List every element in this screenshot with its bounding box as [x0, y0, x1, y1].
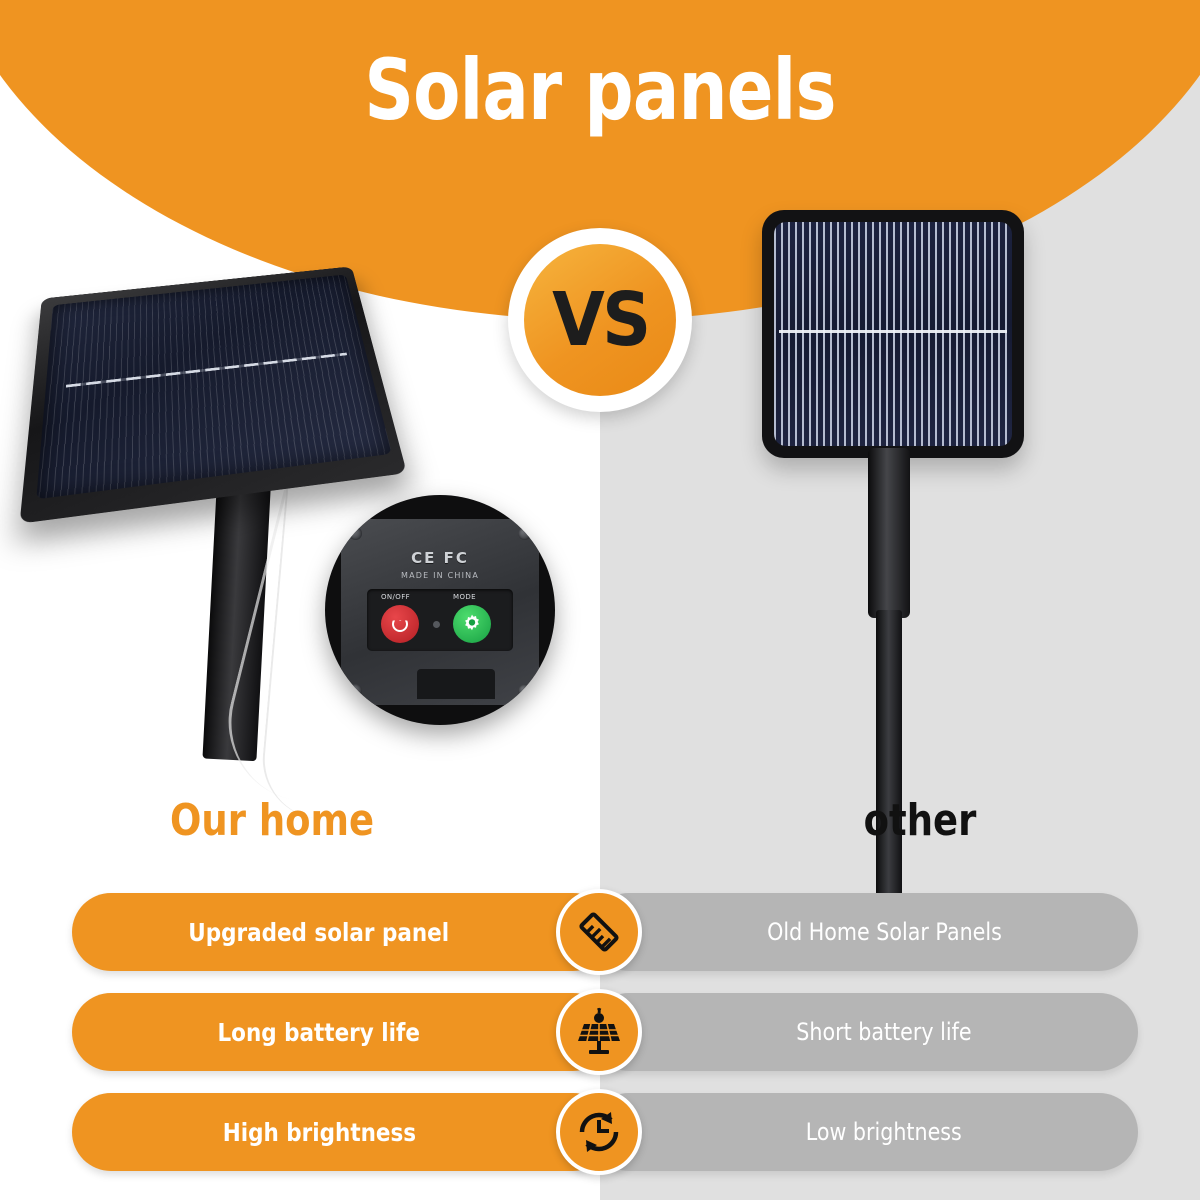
- vs-label: VS: [552, 283, 648, 357]
- mode-button-label: MODE: [453, 593, 476, 601]
- screw-icon: [349, 527, 362, 540]
- other-feature-pill[interactable]: Old Home Solar Panels: [590, 893, 1138, 971]
- screw-icon: [518, 527, 531, 540]
- screw-icon: [518, 684, 531, 697]
- infographic-canvas: Solar panels CE FC M: [0, 0, 1200, 1200]
- brand-heading-row: Our home other: [0, 795, 1200, 875]
- left-solar-panel: [36, 274, 392, 499]
- power-button-label: ON/OFF: [381, 593, 410, 601]
- our-home-heading: Our home: [170, 795, 422, 846]
- comparison-row: Upgraded solar panel Old Home Solar Pane…: [0, 893, 1200, 971]
- control-panel-foot: [417, 669, 495, 699]
- other-heading: other: [794, 795, 1046, 846]
- gear-icon: [460, 612, 484, 636]
- right-panel-cell-surface: [774, 222, 1012, 446]
- right-panel-busbar: [779, 330, 1007, 333]
- row-icon-badge: [556, 889, 642, 975]
- our-feature-pill[interactable]: Long battery life: [72, 993, 612, 1071]
- status-led: [433, 621, 440, 628]
- other-feature-label: Short battery life: [796, 1018, 971, 1046]
- right-panel-frame: [762, 210, 1024, 458]
- mode-button[interactable]: [453, 605, 491, 643]
- page-title: Solar panels: [108, 48, 1092, 132]
- right-panel-pole: [868, 448, 910, 618]
- other-feature-label: Low brightness: [806, 1118, 962, 1146]
- power-button[interactable]: [381, 605, 419, 643]
- ruler-icon: [575, 908, 623, 956]
- our-feature-label: Upgraded solar panel: [189, 918, 450, 947]
- left-panel-busbar: [66, 352, 348, 387]
- origin-text: MADE IN CHINA: [341, 571, 539, 580]
- row-icon-badge: [556, 989, 642, 1075]
- our-home-product-image: CE FC MADE IN CHINA ON/OFF MODE: [10, 170, 480, 790]
- comparison-table: Upgraded solar panel Old Home Solar Pane…: [0, 893, 1200, 1193]
- comparison-row: High brightness Low brightness: [0, 1093, 1200, 1171]
- certification-marks: CE FC: [341, 549, 539, 567]
- other-feature-label: Old Home Solar Panels: [767, 918, 1002, 946]
- control-panel-inset: CE FC MADE IN CHINA ON/OFF MODE: [325, 495, 555, 725]
- control-panel-backplate: CE FC MADE IN CHINA ON/OFF MODE: [341, 519, 539, 705]
- button-plate: ON/OFF MODE: [367, 589, 513, 651]
- our-feature-label: High brightness: [222, 1118, 415, 1147]
- clock-refresh-icon: [574, 1107, 624, 1157]
- solar-panel-icon: [574, 1007, 624, 1057]
- comparison-row: Long battery life Short battery life: [0, 993, 1200, 1071]
- other-feature-pill[interactable]: Low brightness: [590, 1093, 1138, 1171]
- vs-badge-fill: VS: [524, 244, 676, 396]
- our-feature-pill[interactable]: Upgraded solar panel: [72, 893, 612, 971]
- screw-icon: [349, 684, 362, 697]
- our-feature-pill[interactable]: High brightness: [72, 1093, 612, 1171]
- our-feature-label: Long battery life: [218, 1018, 420, 1047]
- vs-badge: VS: [508, 228, 692, 412]
- row-icon-badge: [556, 1089, 642, 1175]
- power-icon: [392, 616, 408, 632]
- other-product-image: [700, 210, 1100, 810]
- other-feature-pill[interactable]: Short battery life: [590, 993, 1138, 1071]
